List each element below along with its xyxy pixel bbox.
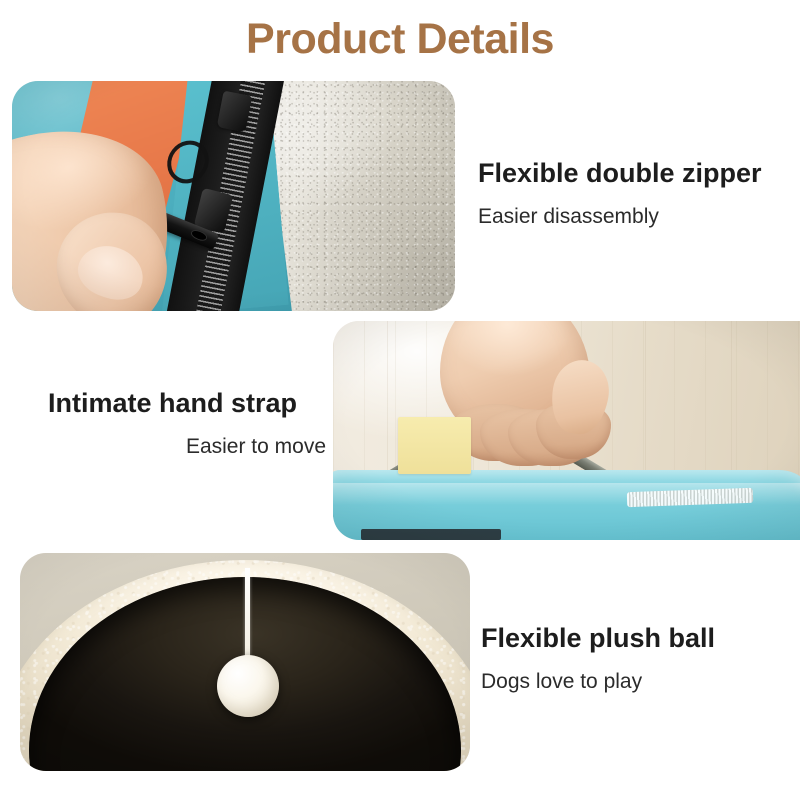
hanging-string xyxy=(245,568,250,666)
feature-headline-ball: Flexible plush ball xyxy=(481,623,715,655)
photo-hand-strap xyxy=(333,321,800,540)
under-bed-strip xyxy=(361,529,501,540)
caption-double-zipper: Flexible double zipper Easier disassembl… xyxy=(478,158,762,229)
feature-subline-ball: Dogs love to play xyxy=(481,669,715,694)
feature-headline-zipper: Flexible double zipper xyxy=(478,158,762,190)
photo-double-zipper-content xyxy=(12,81,455,311)
photo-hand-strap-content xyxy=(333,321,800,540)
feature-subline-zipper: Easier disassembly xyxy=(478,204,762,229)
photo-plush-ball xyxy=(20,553,470,771)
photo-double-zipper xyxy=(12,81,455,311)
photo-plush-ball-content xyxy=(20,553,470,771)
caption-plush-ball: Flexible plush ball Dogs love to play xyxy=(481,623,715,694)
plush-ball xyxy=(217,655,279,717)
page-title: Product Details xyxy=(0,17,800,62)
care-label-patch xyxy=(398,417,470,474)
feature-headline-strap: Intimate hand strap xyxy=(48,388,326,420)
feature-subline-strap: Easier to move xyxy=(48,434,326,459)
caption-hand-strap: Intimate hand strap Easier to move xyxy=(48,388,326,459)
